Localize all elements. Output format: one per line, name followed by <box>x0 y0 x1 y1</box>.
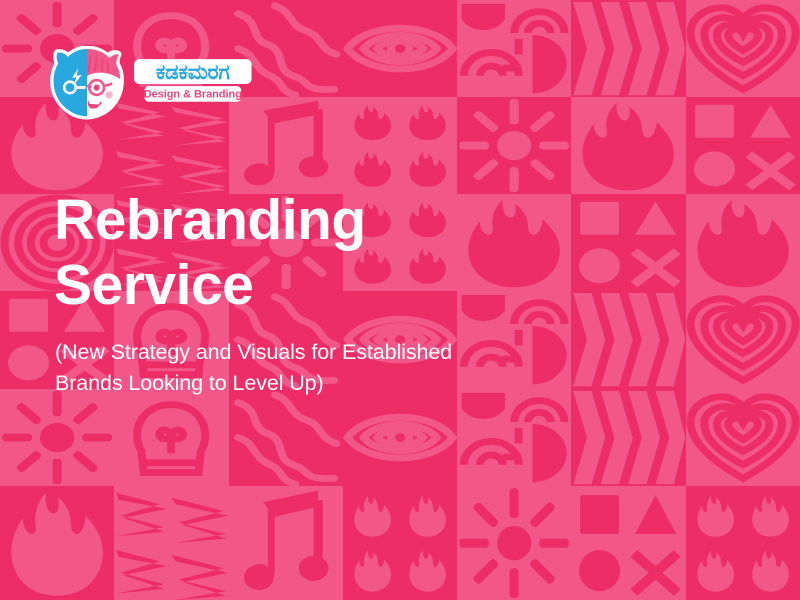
split-face-mascot-icon <box>50 46 124 120</box>
wordmark-script-text: ಕಡಕಮರಗ <box>156 61 230 84</box>
page-title: Rebranding Service <box>54 188 366 318</box>
slide-canvas: ಕಡಕಮರಗ Design & Branding Rebranding Serv… <box>0 0 800 600</box>
wordmark-tagline-text: Design & Branding <box>144 89 242 101</box>
slide-content: ಕಡಕಮರಗ Design & Branding Rebranding Serv… <box>0 0 800 600</box>
brand-logo-lockup[interactable]: ಕಡಕಮರಗ Design & Branding <box>50 46 253 120</box>
page-subtitle: (New Strategy and Visuals for Establishe… <box>55 337 452 398</box>
brand-wordmark: ಕಡಕಮರಗ Design & Branding <box>133 57 253 109</box>
